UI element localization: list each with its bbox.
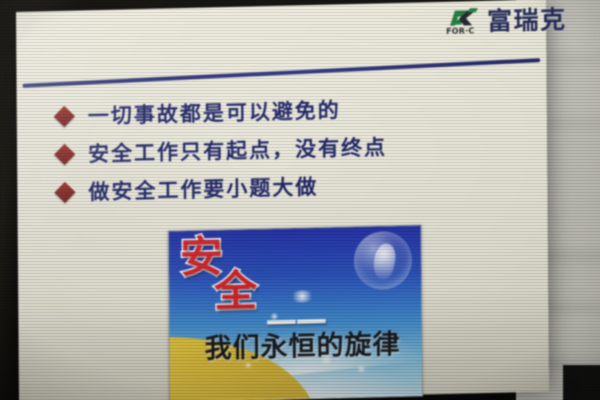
bullet-text: 安全工作只有起点，没有终点 (88, 131, 387, 168)
blue-divider-rule (23, 58, 541, 88)
logo-subtext: FOR·C (446, 26, 474, 36)
bullet-text: 一切事故都是可以避免的 (88, 94, 341, 130)
bullet-text: 做安全工作要小题大做 (88, 171, 318, 206)
forc-r-logo-icon: FOR·C (446, 7, 480, 36)
wall-dark-corner (563, 365, 600, 400)
diamond-bullet-icon (54, 105, 75, 126)
company-name: 富瑞克 (487, 7, 567, 34)
bubble-droplet-icon (370, 241, 399, 281)
diamond-bullet-icon (54, 181, 75, 202)
screenshot-root: FOR·C 富瑞克 一切事故都是可以避免的 安全工作只有起点，没有终点 做安全工… (0, 0, 600, 400)
safety-poster-image: 安 全 —— 我们永恒的旋律 (168, 225, 423, 400)
projected-slide: FOR·C 富瑞克 一切事故都是可以避免的 安全工作只有起点，没有终点 做安全工… (16, 0, 549, 400)
poster-title-char-2: 全 (214, 272, 258, 314)
poster-title: 安 全 (180, 236, 259, 314)
bullet-list: 一切事故都是可以避免的 安全工作只有起点，没有终点 做安全工作要小题大做 (57, 86, 518, 211)
diamond-bullet-icon (54, 143, 75, 164)
slide-logo: FOR·C 富瑞克 (446, 5, 567, 36)
poster-subtitle: 我们永恒的旋律 (204, 322, 400, 366)
